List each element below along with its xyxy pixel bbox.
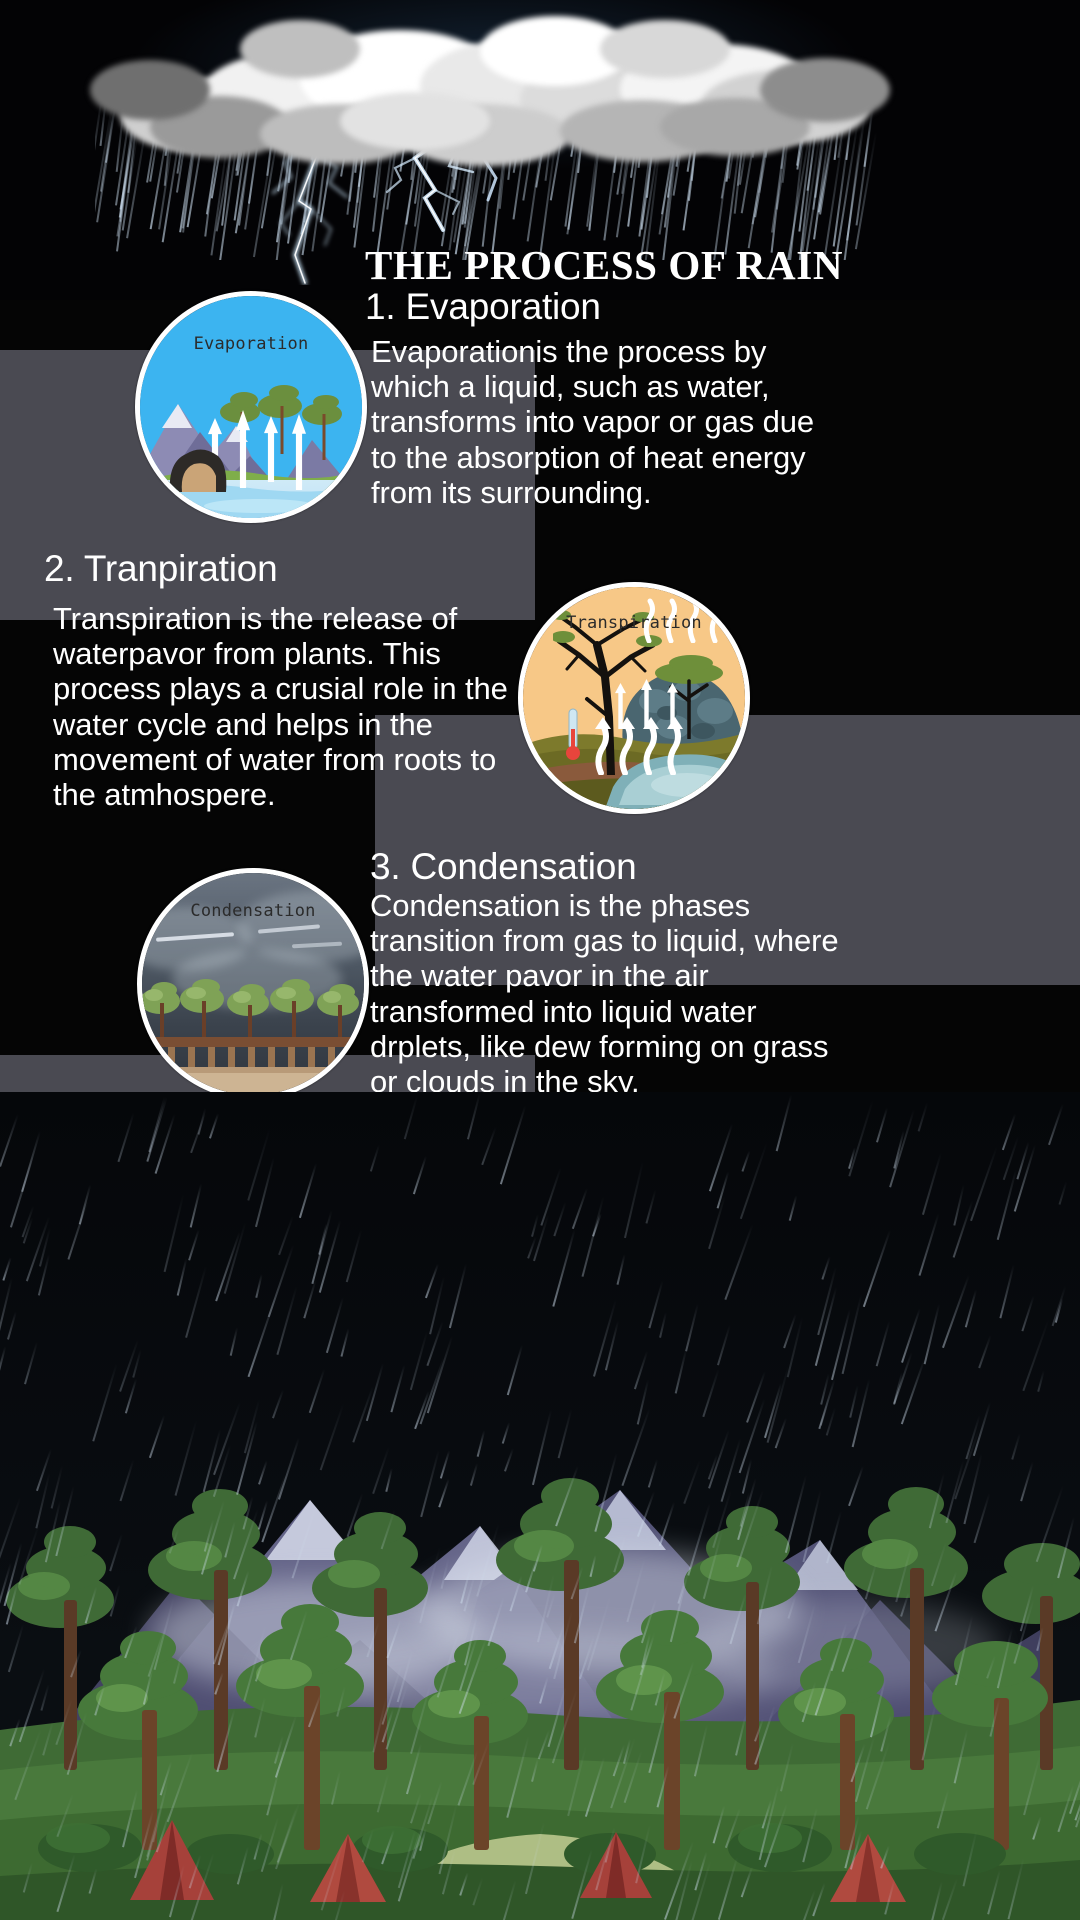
rain-streak [406,1743,422,1793]
rain-streak [425,1264,439,1298]
rain-streak [532,1409,552,1484]
rain-streak [539,1676,549,1703]
rain-streak [303,1280,316,1319]
rain-streak [277,1286,298,1355]
rain-streak [675,1349,688,1394]
rain-streak [224,1521,236,1557]
rain-streak [67,1200,88,1259]
rain-streak [341,1328,350,1357]
rain-streak [320,1404,345,1471]
rain-streak [468,1093,482,1139]
rain-streak [275,1800,301,1868]
rain-streak [237,1571,250,1607]
rain-streak [997,1627,1013,1687]
condensation-illustration: Condensation [137,868,369,1100]
rain-streak [427,1336,453,1414]
rain-streak [850,1385,859,1417]
rain-streak [590,1555,597,1577]
rain-streak [35,1472,50,1527]
rain-streak [413,1155,427,1194]
rain-streak [931,1881,943,1920]
rain-streak [798,1603,816,1663]
rain-streak [924,1304,940,1364]
rain-streak [70,1649,82,1677]
evaporation-illustration: Evaporation [135,291,367,523]
rain-streak [397,1826,422,1902]
rain-streak [318,1220,340,1293]
rain-streak [410,1331,428,1390]
rain-streak [175,1420,198,1495]
rain-streak [863,1229,891,1306]
rain-streak [94,1684,106,1716]
rain-streak [55,1486,74,1556]
rain-streak [476,1430,485,1457]
rain-streak [785,1475,807,1552]
rain-streak [812,1883,825,1916]
rain-streak [802,1682,817,1723]
forest-scene [0,1092,1080,1920]
rain-streak [1036,1627,1043,1650]
section-1-heading: 1. Evaporation [365,286,601,328]
rain-streak [649,1280,664,1327]
rain-streak [531,1758,539,1782]
section-2-body: Transpiration is the release of waterpav… [53,601,523,812]
rain-streak [386,1620,401,1658]
rain-streak [605,1827,616,1862]
rain-streak [685,1304,699,1352]
rain-streak [841,1596,870,1672]
rain-streak [965,1289,977,1327]
rain-streak [954,1729,968,1783]
rain-streak [1013,1599,1034,1664]
rain-streak [438,1478,449,1507]
transpiration-circle-label: Transpiration [523,613,745,633]
rain-streak [185,1266,207,1338]
rain-streak [472,1741,490,1785]
rain-streak [504,1449,514,1472]
rain-streak [1023,1756,1041,1815]
rain-streak [683,1460,701,1504]
rain-streak [547,1687,566,1747]
rain-streak [331,1770,341,1805]
rain-streak [236,1421,258,1495]
rain-streak [626,1558,645,1622]
rain-streak [398,1830,416,1888]
rain-streak [645,1189,656,1223]
rain-streak [1021,1296,1034,1332]
rain-streak [955,1616,973,1686]
rain-streak [124,1626,137,1658]
rain-streak [42,1721,54,1755]
rain-streak [746,1371,766,1423]
section-2-heading: 2. Tranpiration [44,548,278,590]
rain-streak [189,1855,202,1889]
rain-streak [893,1130,904,1168]
rain-streak [272,1389,284,1418]
rain-streak [419,1547,441,1623]
rain-streak [942,1878,958,1920]
rain-streak [979,1335,992,1368]
rain-streak [85,1586,98,1623]
rain-streak [525,1822,545,1894]
rain-streak [187,1852,214,1920]
rain-streak [585,1757,605,1817]
rain-streak [190,1183,202,1227]
rain-streak [362,1828,374,1862]
rain-streak [247,1128,270,1201]
rain-streak [215,1231,240,1300]
rain-streak [709,1123,733,1191]
rain-streak [147,1097,168,1161]
rain-streak [244,1400,260,1453]
rain-streak [996,1168,1016,1239]
rain-streak [420,1450,440,1517]
rain-streak [169,1528,180,1553]
rain-streak [552,1229,575,1306]
rain-streak [826,1407,836,1435]
rain-streak [372,1696,387,1752]
rain-streak [637,1491,655,1537]
rain-streak [346,1229,362,1281]
rain-streak [567,1745,587,1816]
rain-streak [787,1595,796,1619]
rain-streak [173,1652,183,1683]
rain-streak [66,1712,87,1775]
rain-streak [622,1408,651,1486]
rain-streak [717,1324,731,1364]
rain-streak [92,1364,117,1442]
rain-streak [921,1152,941,1215]
rain-streak [990,1698,1001,1736]
rain-streak [473,1878,484,1906]
rain-streak [266,1771,279,1816]
transpiration-illustration: Transpiration [518,582,750,814]
rain-streak [625,1161,645,1238]
rain-streak [774,1418,786,1448]
rain-streak [655,1673,666,1707]
rain-streak [45,1500,61,1562]
rain-streak [189,1229,200,1260]
rain-streak [482,1127,497,1165]
rain-streak [1020,1462,1034,1502]
rain-streak [410,1793,422,1824]
rain-streak [999,1265,1014,1319]
rain-streak [757,1565,773,1624]
rain-streak [125,1379,137,1414]
rain-streak [880,1845,890,1869]
condensation-deck [142,1037,364,1095]
rain-streak [56,1854,75,1912]
rain-streak [776,1095,792,1151]
rain-streak [497,1880,516,1920]
rain-streak [10,1718,22,1746]
rain-streak [741,1866,753,1897]
rain-streak [255,1697,267,1738]
rain-streak [649,1698,670,1773]
rain-streak [537,1574,555,1642]
rain-streak [57,1794,74,1837]
infographic-page: THE PROCESS OF RAIN 1. Evaporation Evapo… [0,0,1080,1920]
rain-streak [803,1490,822,1563]
rain-streak [922,1705,937,1761]
rain-streak [346,1493,363,1537]
rain-streak [788,1195,797,1221]
rain-streak [201,1500,225,1574]
rain-streak [1048,1103,1064,1144]
evaporation-foreground-rock [166,436,232,492]
rain-streak [177,1258,188,1296]
rain-streak [942,1275,970,1348]
rain-streak [255,1658,265,1682]
rain-streak [237,1846,249,1884]
rain-streak [725,1808,741,1848]
rain-streak [780,1742,794,1791]
rain-streak [380,1510,395,1550]
transpiration-vapor-wiggles [593,715,703,775]
rain-streak [822,1256,831,1280]
rain-streak [936,1789,949,1828]
rain-streak [531,1214,539,1237]
rain-streak [278,1437,300,1499]
section-3-body: Condensation is the phases transition fr… [370,888,840,1099]
rain-streak [217,1708,236,1771]
rain-streak [0,1278,13,1359]
rain-streak [463,1572,476,1612]
rain-streak [510,1576,523,1612]
rain-streak [852,1379,871,1447]
rain-streak [895,1545,912,1602]
rain-streak [0,1346,6,1372]
rain-streak [449,1264,467,1328]
rain-streak [670,1567,690,1642]
rain-streak [404,1096,418,1139]
rain-streak [635,1825,651,1884]
rain-streak [153,1598,174,1670]
rain-streak [437,1633,460,1697]
page-title: THE PROCESS OF RAIN [365,241,843,289]
rain-streak [334,1890,345,1920]
rain-streak [673,1661,694,1718]
rain-streak [974,1493,991,1543]
rain-streak [587,1597,611,1671]
rain-streak [292,1507,317,1579]
rain-streak [336,1686,346,1717]
rain-streak [929,1472,945,1527]
rain-streak [659,1312,667,1338]
rain-streak [23,1862,33,1892]
condensation-circle-label: Condensation [142,901,364,921]
rain-streak [224,1222,247,1294]
rain-streak [169,1865,185,1917]
rain-streak [120,1459,135,1500]
rain-streak [0,1115,19,1168]
rain-streak [613,1535,626,1573]
rain-streak [885,1878,896,1914]
rain-streak [918,1102,929,1131]
rain-streak [440,1450,450,1479]
rain-streak [377,1773,389,1812]
rain-streak [39,1227,51,1266]
rain-streak [370,1144,380,1171]
rain-streak [299,1162,317,1218]
rain-streak [767,1366,790,1443]
rain-streak [217,1600,235,1665]
rain-streak [735,1714,747,1755]
rain-streak [163,1193,184,1271]
rain-streak [272,1884,283,1920]
rain-streak [439,1804,458,1875]
rain-streak [1036,1485,1064,1562]
rain-streak [1037,1370,1045,1392]
rain-streak [1032,1816,1041,1839]
rain-streak [987,1869,1001,1914]
rain-streak [876,1107,888,1142]
rain-streak [40,1684,49,1711]
rain-streak [703,1369,720,1417]
rain-streak [190,1114,206,1153]
rain-streak [740,1492,751,1526]
rain-streak [742,1150,751,1172]
rain-streak [254,1833,263,1860]
rain-streak [970,1145,998,1220]
rain-streak [552,1689,578,1763]
rain-streak [122,1790,138,1848]
rain-streak [459,1873,468,1896]
rain-streak [876,1320,891,1366]
rain-streak [919,1214,940,1277]
rain-streak [55,1699,72,1745]
rain-streak [558,1408,573,1458]
rain-streak [935,1571,958,1631]
rain-streak [311,1210,332,1284]
rain-streak [230,1327,238,1355]
rain-streak [637,1380,649,1425]
rain-streak [865,1562,877,1599]
rain-streak [572,1188,588,1229]
rain-streak [118,1113,135,1162]
section-1-body: Evaporationis the process by which a liq… [371,334,841,510]
rain-streak [209,1114,219,1140]
rain-streak [7,1624,23,1673]
rain-streak [256,1274,263,1298]
rain-streak [500,1105,526,1184]
rain-streak [659,1502,675,1546]
storm-cloud-17 [240,20,360,78]
rain-streak [391,1364,406,1411]
rain-streak [945,1460,964,1523]
rain-streak [678,1578,687,1604]
rain-streak [954,1430,979,1499]
rain-streak [507,1345,523,1395]
rain-streak [109,1533,123,1571]
rain-streak [953,1200,974,1258]
rain-streak [506,1736,529,1817]
rain-streak [717,1857,737,1920]
rain-streak [570,1566,583,1599]
storm-cloud-14 [760,58,890,122]
rain-streak [440,1558,449,1589]
rain-streak [814,1652,837,1715]
rain-streak [36,1449,52,1491]
rain-streak [1057,1517,1075,1579]
rain-streak [1016,1141,1029,1179]
rain-streak [501,1422,509,1444]
rain-streak [595,1453,618,1531]
rain-streak [712,1806,725,1844]
rain-streak [14,1729,41,1801]
rain-streak [688,1503,711,1575]
storm-cloud-13 [90,60,210,120]
rain-streak [900,1593,909,1617]
rain-streak [554,1201,567,1236]
storm-cloud-16 [340,92,490,150]
rain-streak [381,1830,395,1865]
rain-streak [308,1369,324,1413]
rain-streak [579,1636,595,1679]
storm-cloud-18 [600,20,730,78]
rain-streak [476,1523,499,1596]
rain-streak [848,1466,864,1507]
rain-streak [962,1830,977,1886]
rain-streak [758,1785,779,1860]
rain-streak [1020,1586,1034,1632]
thermometer-icon [565,707,581,763]
rain-streak [931,1541,947,1585]
rain-streak [326,1297,344,1353]
rain-streak [1059,1181,1068,1204]
rain-streak [694,1725,708,1777]
rain-streak [953,1184,965,1226]
rain-streak [1011,1433,1021,1460]
rain-streak [23,1341,37,1384]
rain-streak [290,1610,308,1660]
rain-streak [352,1386,374,1443]
rain-streak [802,1808,818,1863]
rain-streak [740,1141,769,1220]
rain-streak [385,1468,393,1492]
section-3-heading: 3. Condensation [370,846,636,888]
rain-streak [725,1224,754,1300]
rain-streak [729,1594,746,1644]
rain-streak [88,1868,97,1894]
rain-streak [8,1312,18,1340]
rain-streak [647,1459,657,1487]
forest-rain [0,1092,1080,1920]
rain-streak [214,1673,224,1696]
rain-streak [149,1415,165,1459]
rain-streak [470,1464,478,1487]
rain-streak [308,1692,322,1727]
rain-streak [889,1109,915,1187]
rain-streak [19,1525,40,1584]
rain-streak [488,1597,505,1647]
evaporation-circle-label: Evaporation [140,334,362,354]
rain-streak [1023,1319,1050,1391]
rain-streak [555,1466,579,1527]
rain-streak [366,1621,379,1657]
rain-streak [657,1765,670,1807]
rain-streak [870,1680,886,1738]
rain-streak [826,1511,842,1564]
rain-streak [1008,1859,1025,1919]
rain-streak [571,1849,593,1919]
rain-streak [574,1585,590,1644]
rain-streak [616,1254,625,1285]
rain-streak [258,1460,268,1484]
rain-streak [848,1100,873,1176]
rain-streak [526,1560,538,1592]
rain-streak [986,1655,996,1679]
